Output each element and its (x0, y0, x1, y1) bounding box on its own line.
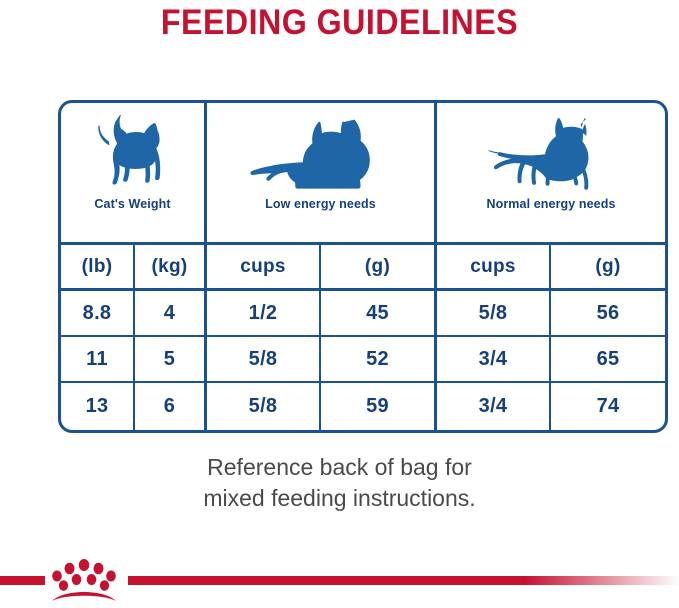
unit-header-normal-cups: cups (434, 245, 549, 288)
unit-header-lb: (lb) (61, 245, 133, 288)
cell-low-grams: 52 (319, 337, 434, 381)
cell-normal-grams: 56 (549, 291, 665, 335)
reference-note-line-2: mixed feeding instructions. (0, 483, 679, 514)
unit-header-low-grams: (g) (319, 245, 434, 288)
cell-weight-lb: 13 (61, 383, 133, 430)
unit-header-normal-grams: (g) (549, 245, 665, 288)
table-units-row: (lb) (kg) cups (g) cups (g) (61, 245, 665, 291)
brand-bar-left (0, 576, 45, 585)
cell-normal-grams: 65 (549, 337, 665, 381)
walking-cat-icon (481, 113, 621, 195)
cell-weight-kg: 4 (133, 291, 204, 335)
unit-header-kg: (kg) (133, 245, 204, 288)
cell-normal-cups: 3/4 (434, 337, 549, 381)
royal-canin-crown-logo (48, 556, 120, 604)
reference-note-line-1: Reference back of bag for (0, 452, 679, 483)
cell-low-cups: 1/2 (204, 291, 319, 335)
cell-weight-lb: 8.8 (61, 291, 133, 335)
brand-band (0, 556, 679, 608)
table-icon-header-row: Cat's Weight Low energy needs (61, 103, 665, 245)
cell-normal-grams: 74 (549, 383, 665, 430)
cell-normal-cups: 3/4 (434, 383, 549, 430)
standing-cat-icon (95, 113, 171, 195)
page-title: FEEDING GUIDELINES (27, 0, 652, 46)
unit-header-low-cups: cups (204, 245, 319, 288)
table-row: 8.8 4 1/2 45 5/8 56 (61, 291, 665, 337)
cell-weight-kg: 5 (133, 337, 204, 381)
header-cell-normal-energy: Normal energy needs (434, 103, 665, 242)
lying-cat-icon (247, 113, 395, 195)
header-label-low-energy: Low energy needs (265, 197, 376, 211)
cell-weight-lb: 11 (61, 337, 133, 381)
cell-weight-kg: 6 (133, 383, 204, 430)
cell-normal-cups: 5/8 (434, 291, 549, 335)
table-row: 11 5 5/8 52 3/4 65 (61, 337, 665, 383)
cell-low-cups: 5/8 (204, 383, 319, 430)
cell-low-grams: 59 (319, 383, 434, 430)
brand-bar-right (128, 576, 679, 585)
reference-note: Reference back of bag for mixed feeding … (0, 452, 679, 514)
cell-low-grams: 45 (319, 291, 434, 335)
header-label-cats-weight: Cat's Weight (94, 197, 170, 211)
header-cell-low-energy: Low energy needs (204, 103, 434, 242)
cell-low-cups: 5/8 (204, 337, 319, 381)
table-row: 13 6 5/8 59 3/4 74 (61, 383, 665, 430)
feeding-guidelines-table: Cat's Weight Low energy needs (58, 100, 668, 433)
header-label-normal-energy: Normal energy needs (486, 197, 615, 211)
header-cell-cats-weight: Cat's Weight (61, 103, 204, 242)
